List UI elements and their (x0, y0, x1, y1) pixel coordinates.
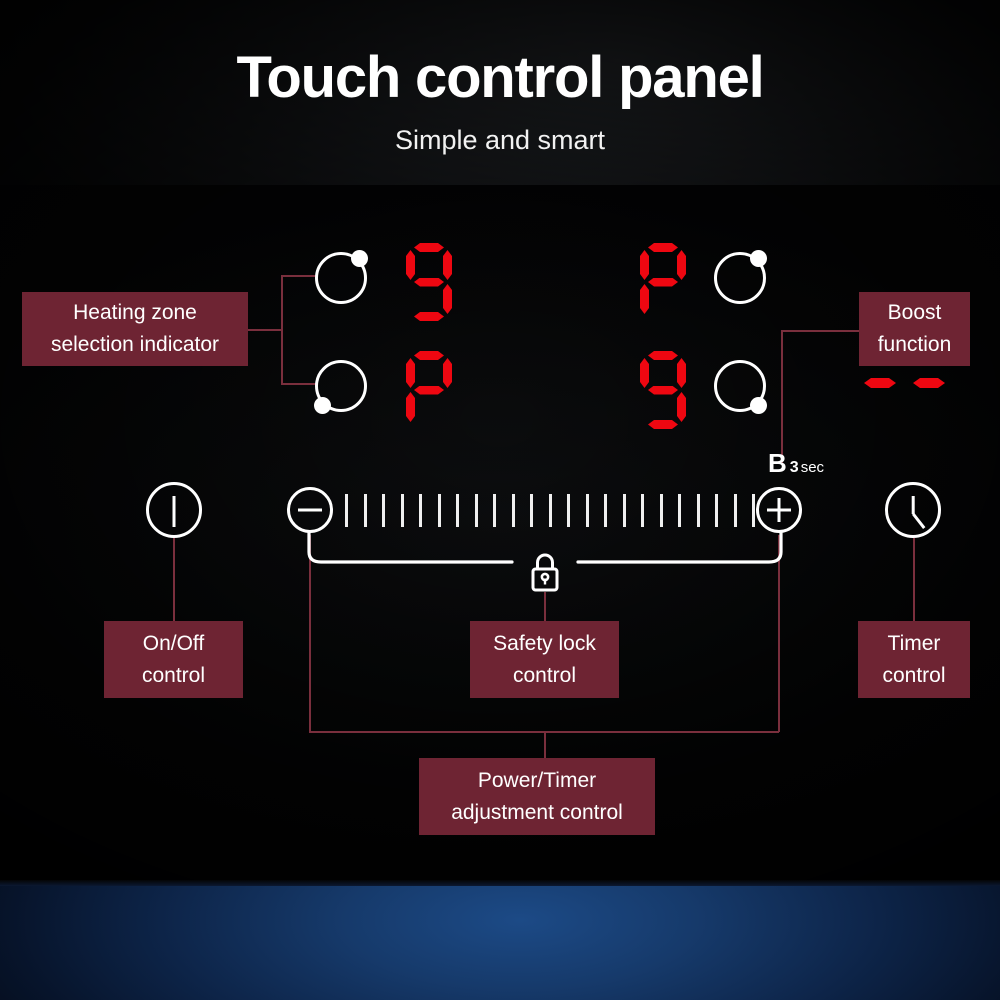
zone-ring-indicator-dot (314, 397, 331, 414)
connector-heating-spine (281, 276, 283, 384)
segment-a (414, 351, 444, 360)
slider-tick (549, 494, 552, 527)
zone-ring-top-left[interactable] (315, 252, 367, 304)
slider-tick (419, 494, 422, 527)
boost-hold-hint: B3sec (768, 448, 824, 479)
boost-hint-unit: sec (801, 459, 824, 476)
touch-control-panel-infographic: Touch control panel Simple and smart (0, 0, 1000, 1000)
boost-indicator (864, 378, 945, 388)
callout-timer-control-label: Timer control (882, 628, 945, 692)
power-icon (173, 496, 176, 527)
increase-button[interactable] (756, 487, 802, 533)
segment-e (406, 392, 415, 422)
segment-c (443, 392, 452, 422)
segment-b (677, 358, 686, 388)
page-subtitle: Simple and smart (0, 125, 1000, 156)
clock-icon-hour-hand (912, 513, 925, 529)
slider-tick (697, 494, 700, 527)
callout-timer-control: Timer control (858, 621, 970, 698)
slider-track[interactable] (345, 492, 755, 528)
slider-tick (604, 494, 607, 527)
callout-boost-function: Boost function (859, 292, 970, 366)
boost-hint-letter: B (768, 448, 787, 478)
segment-d (414, 312, 444, 321)
plus-icon-vertical (778, 498, 781, 522)
connector-heating-bottom-arm (281, 383, 318, 385)
callout-on-off-control: On/Off control (104, 621, 243, 698)
segment-d (414, 420, 444, 429)
display-top-left: 9 (406, 243, 452, 321)
segment-a (414, 243, 444, 252)
connector-boost-horizontal (781, 330, 860, 332)
header: Touch control panel Simple and smart (0, 48, 1000, 156)
callout-power-timer-control-label: Power/Timer adjustment control (451, 765, 623, 829)
segment-e (640, 392, 649, 422)
callout-on-off-control-label: On/Off control (142, 628, 205, 692)
zone-ring-top-right[interactable] (714, 252, 766, 304)
slider-tick (567, 494, 570, 527)
connector-boost-vertical (781, 330, 783, 463)
segment-g (414, 278, 444, 287)
boost-hint-duration: 3 (790, 459, 799, 476)
zone-ring-bottom-left[interactable] (315, 360, 367, 412)
slider-tick (641, 494, 644, 527)
segment-e (640, 284, 649, 314)
power-button[interactable] (146, 482, 202, 538)
segment-b (443, 358, 452, 388)
connector-adjust-stem (544, 731, 546, 758)
clock-icon-minute-hand (912, 496, 915, 514)
segment-c (677, 392, 686, 422)
slider-tick (530, 494, 533, 527)
slider-tick (586, 494, 589, 527)
segment-a (648, 351, 678, 360)
segment-c (443, 284, 452, 314)
segment-d (648, 312, 678, 321)
slider-tick (345, 494, 348, 527)
slider-tick (715, 494, 718, 527)
segment-e (406, 284, 415, 314)
timer-button[interactable] (885, 482, 941, 538)
slider-tick (401, 494, 404, 527)
zone-ring-indicator-dot (750, 250, 767, 267)
slider-tick (493, 494, 496, 527)
slider-tick (438, 494, 441, 527)
slider-tick (512, 494, 515, 527)
callout-heating-zone: Heating zone selection indicator (22, 292, 248, 366)
segment-d (648, 420, 678, 429)
display-bottom-right: 9 (640, 351, 686, 429)
callout-boost-function-label: Boost function (878, 297, 952, 361)
zone-ring-indicator-dot (351, 250, 368, 267)
slider-tick (678, 494, 681, 527)
zone-ring-bottom-right[interactable] (714, 360, 766, 412)
slider-tick (364, 494, 367, 527)
connector-heating-top-arm (281, 275, 318, 277)
connector-safety-lock (544, 592, 546, 621)
callout-power-timer-control: Power/Timer adjustment control (419, 758, 655, 835)
segment-g (648, 278, 678, 287)
callout-safety-lock-control: Safety lock control (470, 621, 619, 698)
callout-safety-lock-control-label: Safety lock control (493, 628, 596, 692)
segment-f (406, 358, 415, 388)
padlock-icon[interactable] (527, 550, 563, 594)
slider-tick (660, 494, 663, 527)
callout-heating-zone-label: Heating zone selection indicator (51, 297, 219, 361)
segment-f (406, 250, 415, 280)
segment-b (677, 250, 686, 280)
segment-f (640, 250, 649, 280)
boost-dash-right (913, 378, 945, 388)
connector-timer (913, 538, 915, 621)
display-top-right: P (640, 243, 686, 321)
display-bottom-left: P (406, 351, 452, 429)
slider-tick (734, 494, 737, 527)
segment-c (677, 284, 686, 314)
slider-tick (623, 494, 626, 527)
segment-f (640, 358, 649, 388)
segment-g (648, 386, 678, 395)
slider-tick (752, 494, 755, 527)
page-title: Touch control panel (0, 48, 1000, 109)
segment-b (443, 250, 452, 280)
decrease-button[interactable] (287, 487, 333, 533)
boost-dash-left (864, 378, 896, 388)
connector-onoff (173, 538, 175, 621)
blue-bottom-band (0, 886, 1000, 1000)
minus-icon (298, 509, 322, 512)
slider-tick (456, 494, 459, 527)
segment-a (648, 243, 678, 252)
segment-g (414, 386, 444, 395)
slider-tick (382, 494, 385, 527)
slider-tick (475, 494, 478, 527)
connector-heating-stem (247, 329, 283, 331)
zone-ring-indicator-dot (750, 397, 767, 414)
